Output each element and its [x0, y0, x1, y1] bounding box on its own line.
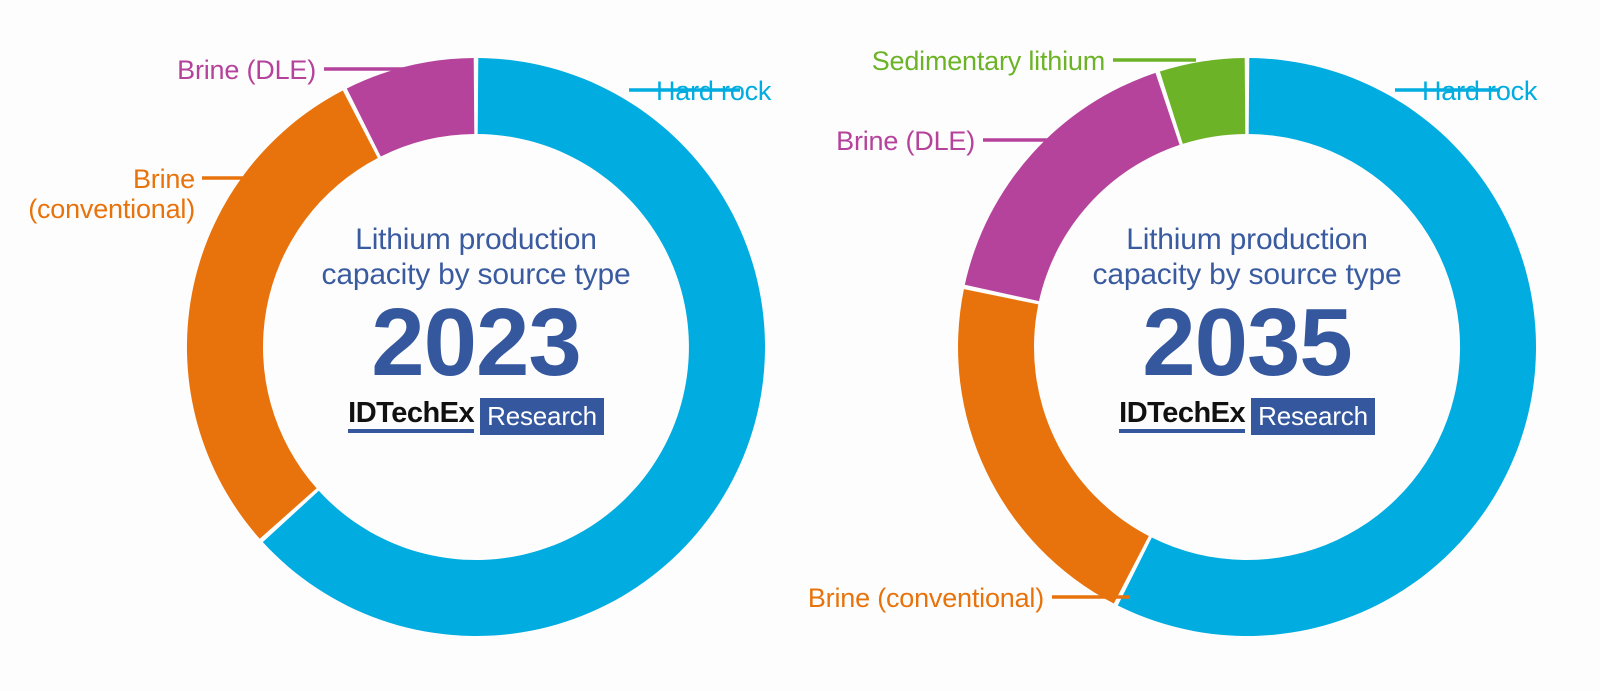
center-block-2035: Lithium production capacity by source ty… — [1037, 222, 1457, 435]
center-title-line2-2035: capacity by source type — [1093, 258, 1402, 291]
idtechex-wordmark-2035: IDTechEx — [1119, 398, 1245, 433]
center-title-line1-2035: Lithium production — [1126, 223, 1368, 256]
label-brine-conventional-2035: Brine (conventional) — [700, 583, 1044, 614]
idtechex-logo-2035: IDTechEx Research — [1037, 398, 1457, 435]
center-title-2035: Lithium production capacity by source ty… — [1037, 222, 1457, 292]
label-sedimentary-2035: Sedimentary lithium — [790, 46, 1105, 77]
label-hard-rock-2035: Hard rock — [1422, 76, 1537, 107]
center-year-2035: 2035 — [1037, 294, 1457, 392]
chart-canvas: Hard rock Brine (DLE) Brine (conventiona… — [0, 0, 1600, 691]
idtechex-research-badge-2035: Research — [1251, 398, 1375, 435]
label-brine-dle-2035: Brine (DLE) — [700, 126, 975, 157]
